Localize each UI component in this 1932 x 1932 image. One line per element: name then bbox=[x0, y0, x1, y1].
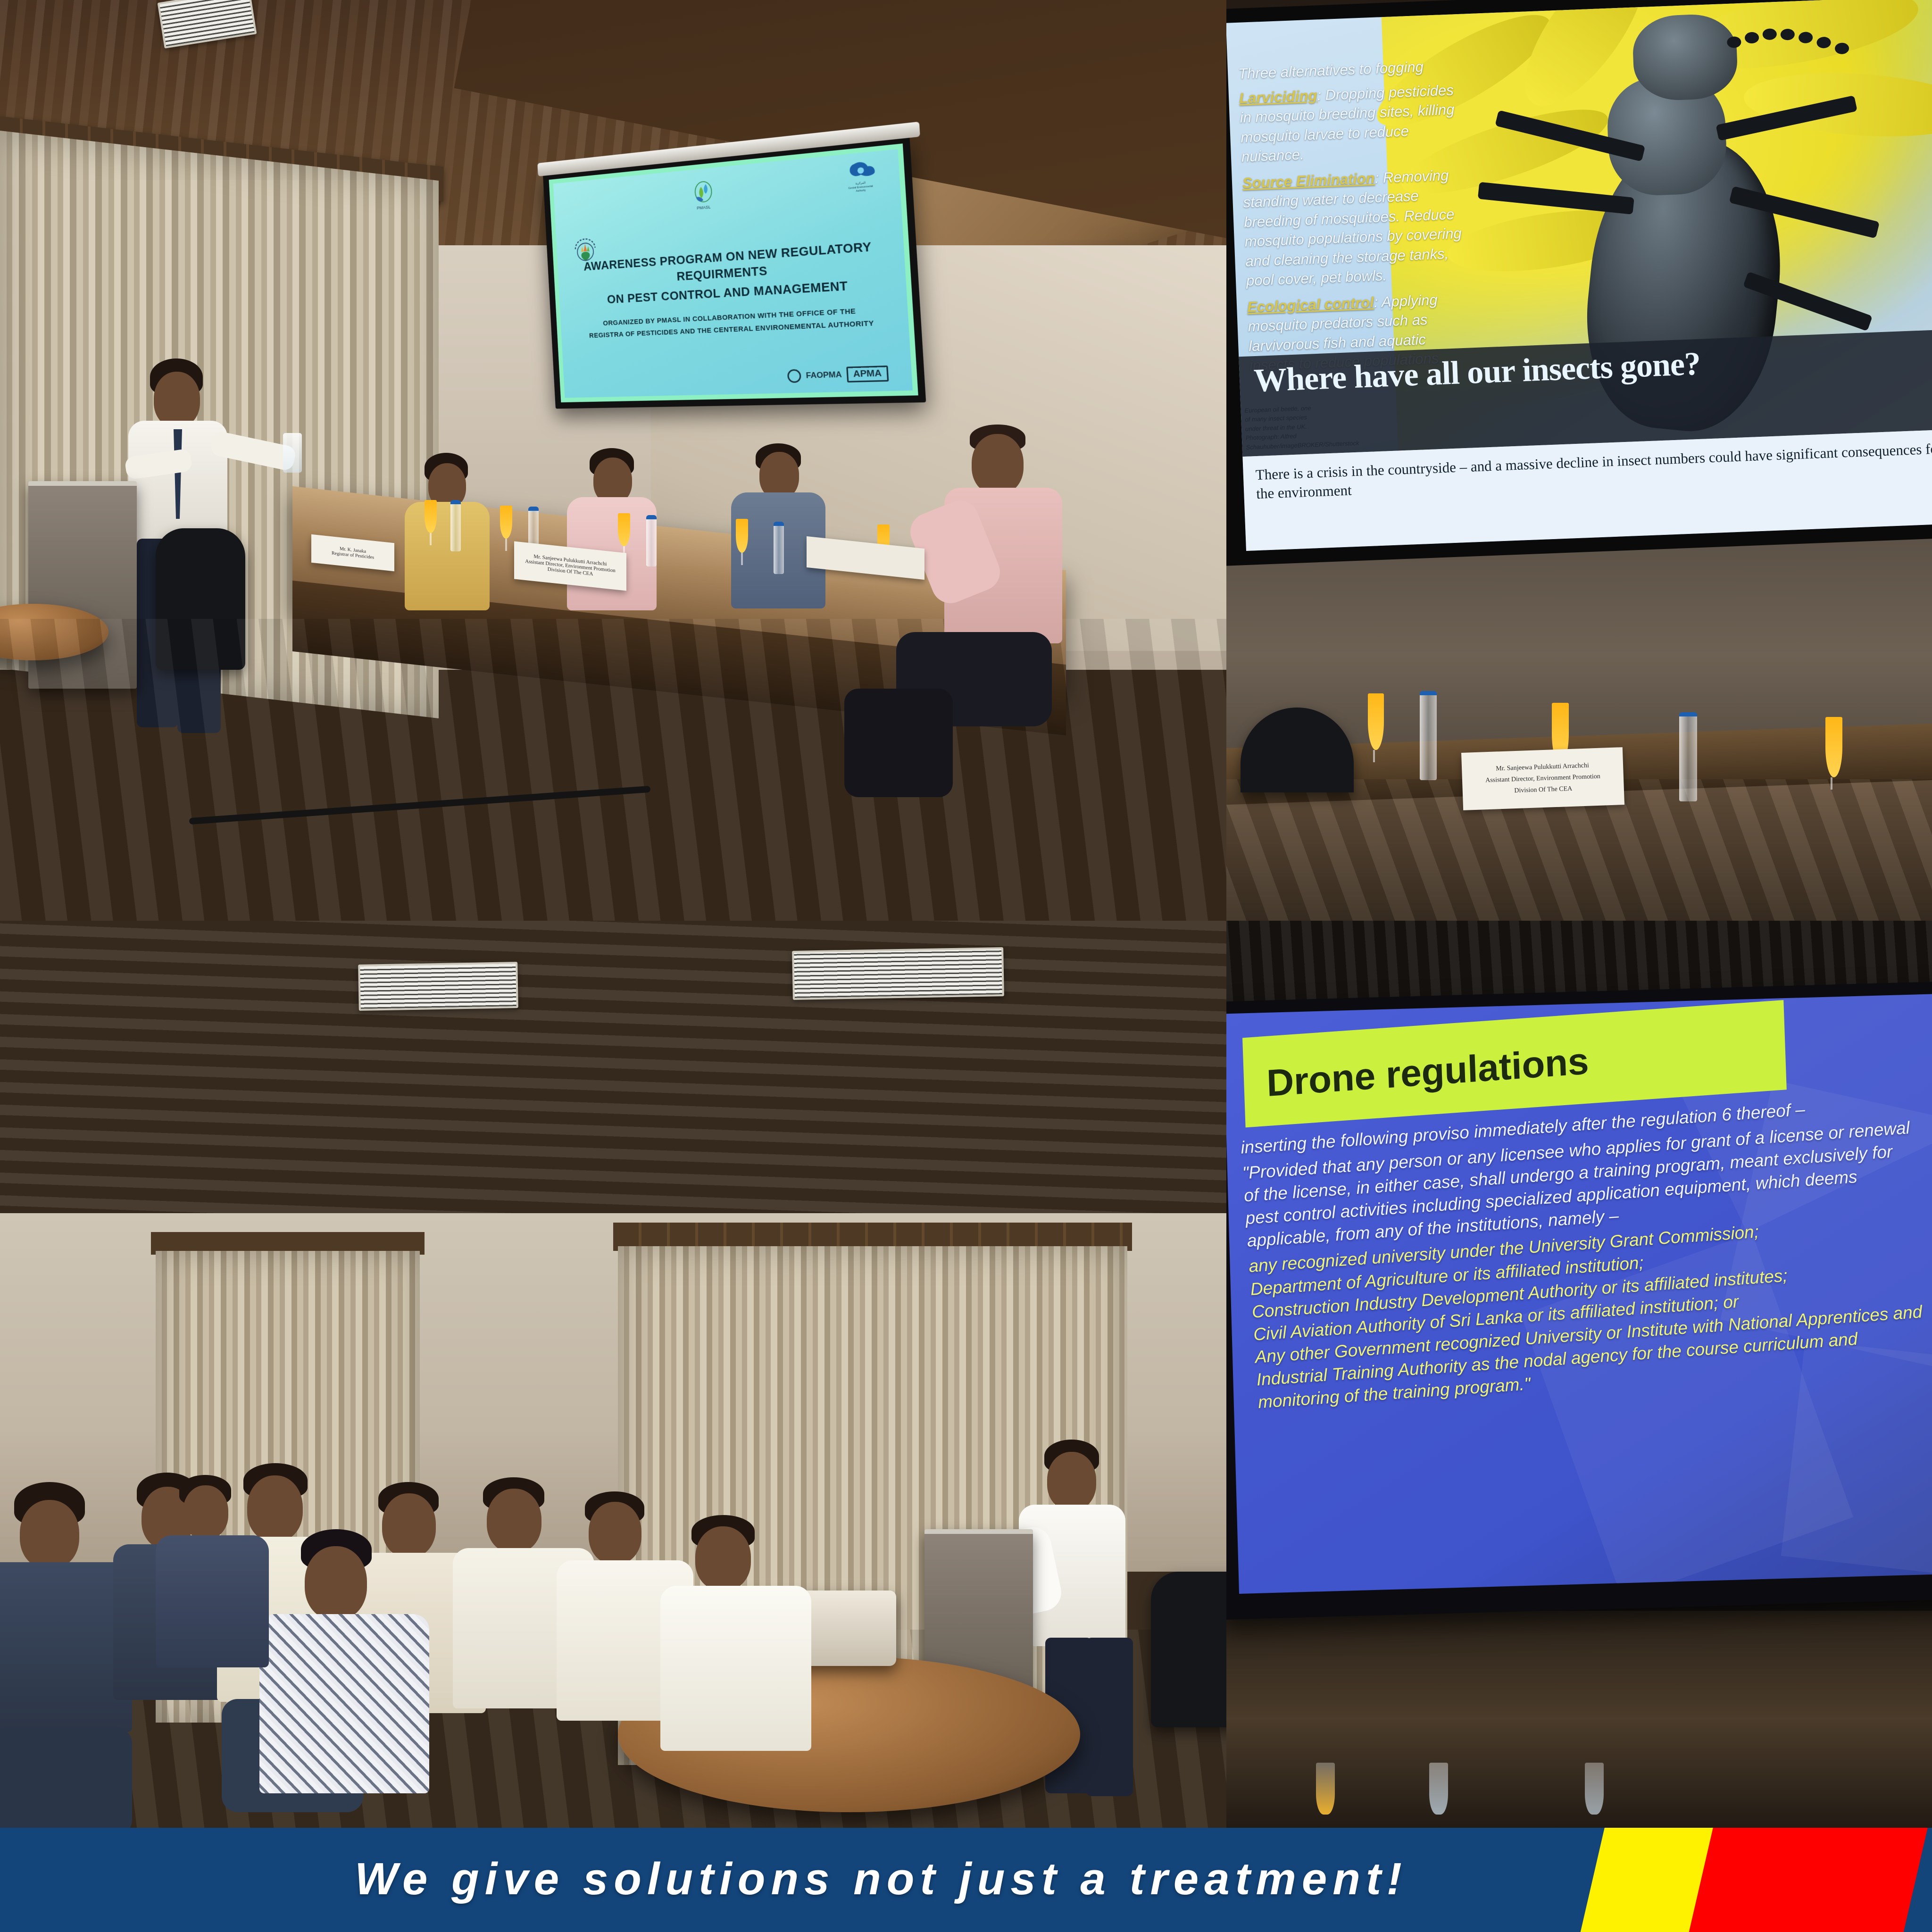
insect-intro: Three alternatives to fogging bbox=[1238, 56, 1460, 84]
beetle-head bbox=[1632, 13, 1739, 101]
air-vent-icon bbox=[792, 947, 1004, 1000]
juice-glass bbox=[500, 506, 512, 539]
pmasl-logo-icon: PMASL bbox=[687, 179, 719, 212]
water-bottle bbox=[450, 500, 461, 551]
drone-slide: Drone regulations inserting the followin… bbox=[1226, 993, 1932, 1594]
wooden-ceiling bbox=[0, 921, 1226, 1251]
panelist-2 bbox=[557, 448, 675, 632]
water-bottle bbox=[1420, 691, 1437, 780]
water-bottle bbox=[774, 522, 784, 574]
name-card-table: Mr. Sanjeewa Pulukkutti Arrachchi Assist… bbox=[1461, 747, 1624, 810]
projection-screen: Three alternatives to fogging Larvicidin… bbox=[1226, 0, 1932, 566]
bullet-2-heading: Source Elimination bbox=[1242, 170, 1375, 192]
apma-label: APMA bbox=[846, 366, 889, 383]
water-bottle bbox=[1585, 1763, 1604, 1815]
water-bottle bbox=[646, 515, 657, 566]
juice-glass bbox=[1368, 693, 1384, 750]
svg-text:Central Environmental: Central Environmental bbox=[849, 185, 874, 190]
title-slide: PMASL المركزية Central Environmental Aut… bbox=[549, 143, 918, 402]
insect-slide: Three alternatives to fogging Larvicidin… bbox=[1226, 0, 1932, 551]
juice-glass bbox=[736, 519, 748, 553]
svg-text:PMASL: PMASL bbox=[697, 205, 711, 211]
bullet-1-heading: Larviciding bbox=[1239, 87, 1318, 106]
audience-member-back bbox=[156, 1475, 274, 1701]
photo-panel-audience bbox=[0, 921, 1226, 1828]
cea-logo-icon: المركزية Central Environmental Authority bbox=[840, 158, 881, 197]
juice-glass bbox=[1825, 717, 1842, 777]
photo-panel-drone-slide: Drone regulations inserting the followin… bbox=[1226, 921, 1932, 1828]
projection-screen: PMASL المركزية Central Environmental Aut… bbox=[543, 136, 926, 409]
sponsor-logos: FAOPMA APMA bbox=[787, 366, 889, 384]
juice-glass bbox=[618, 513, 630, 546]
photo-panel-head-table: PMASL المركزية Central Environmental Aut… bbox=[0, 0, 1226, 921]
banner-tagline: We give solutions not just a treatment! bbox=[0, 1853, 1932, 1905]
drone-slide-body: inserting the following proviso immediat… bbox=[1240, 1091, 1932, 1414]
audience-member-front bbox=[264, 1529, 443, 1828]
chair bbox=[1151, 1572, 1226, 1727]
bullet-3-heading: Ecological control bbox=[1247, 294, 1374, 315]
title-slide-text: AWARENESS PROGRAM ON NEW REGULATORY REQU… bbox=[573, 237, 889, 342]
name-card-division: Division Of The CEA bbox=[1514, 783, 1573, 797]
juice-glass bbox=[1316, 1763, 1335, 1815]
insect-slide-bullets: Three alternatives to fogging Larvicidin… bbox=[1238, 56, 1471, 376]
panelist-4 bbox=[924, 425, 1123, 802]
bottom-banner: We give solutions not just a treatment! bbox=[0, 1828, 1932, 1932]
air-vent-icon bbox=[358, 962, 518, 1011]
audience-member bbox=[660, 1515, 816, 1826]
projection-screen: Drone regulations inserting the followin… bbox=[1226, 981, 1932, 1620]
juice-glass bbox=[425, 500, 437, 533]
svg-text:المركزية: المركزية bbox=[856, 182, 866, 185]
water-bottle bbox=[1679, 712, 1697, 801]
photo-panel-insect-slide: Three alternatives to fogging Larvicidin… bbox=[1226, 0, 1932, 921]
water-bottle-held bbox=[283, 433, 302, 473]
drone-slide-heading: Drone regulations bbox=[1266, 1039, 1590, 1105]
photo-collage: PMASL المركزية Central Environmental Aut… bbox=[0, 0, 1932, 1932]
water-bottle bbox=[1429, 1763, 1448, 1815]
faopma-ring-icon bbox=[787, 369, 801, 383]
svg-text:Authority: Authority bbox=[856, 189, 866, 193]
faopma-label: FAOPMA bbox=[806, 370, 842, 381]
